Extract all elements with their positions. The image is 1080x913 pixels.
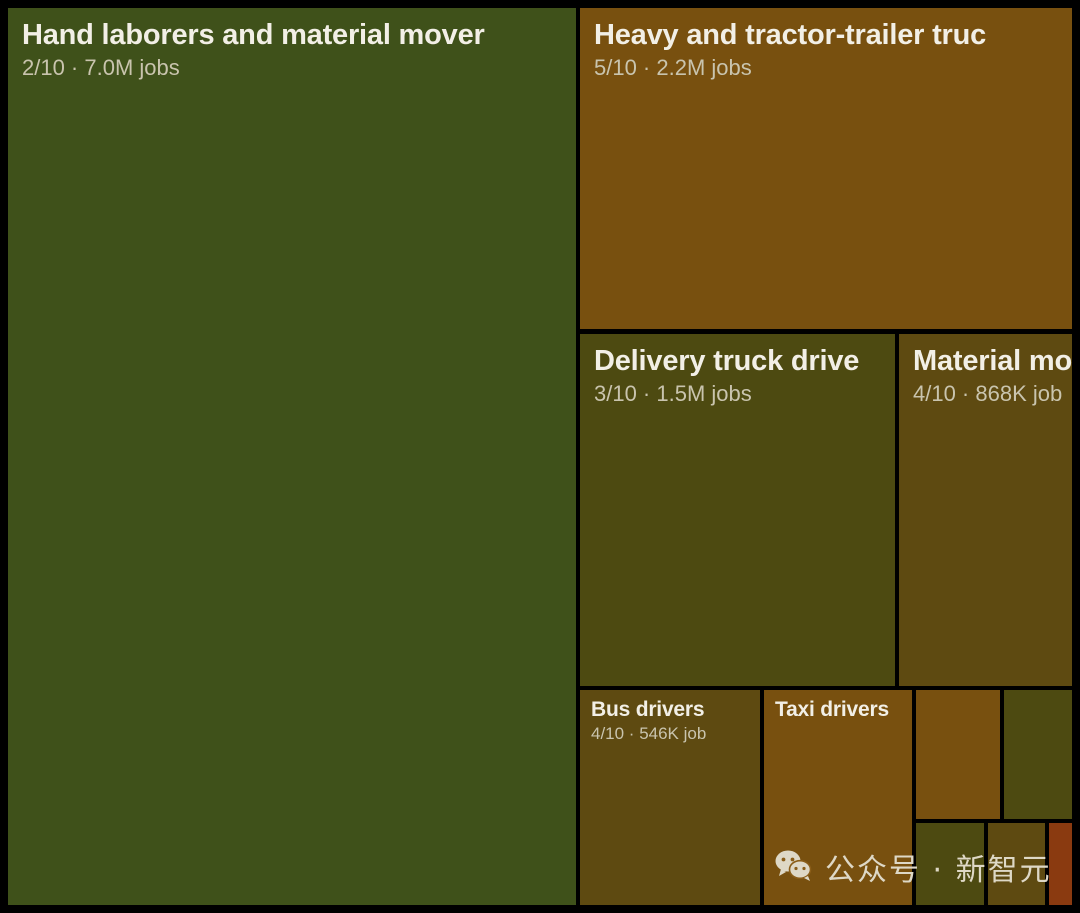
treemap-tile[interactable] xyxy=(988,823,1045,905)
treemap-tile[interactable]: Taxi drivers xyxy=(764,690,912,905)
treemap-tile[interactable]: Heavy and tractor-trailer truc5/10 · 2.2… xyxy=(580,8,1072,329)
tile-subtitle: 5/10 · 2.2M jobs xyxy=(594,54,1058,82)
treemap-tile[interactable]: Material movi4/10 · 868K job xyxy=(899,334,1072,686)
tile-title: Hand laborers and material mover xyxy=(22,20,562,51)
treemap-tile[interactable]: Bus drivers4/10 · 546K job xyxy=(580,690,760,905)
tile-title: Heavy and tractor-trailer truc xyxy=(594,20,1058,51)
tile-subtitle: 2/10 · 7.0M jobs xyxy=(22,54,562,82)
treemap-tile[interactable]: Delivery truck drive3/10 · 1.5M jobs xyxy=(580,334,895,686)
tile-title: Bus drivers xyxy=(591,699,749,721)
tile-title: Taxi drivers xyxy=(775,699,901,721)
treemap-tile[interactable] xyxy=(916,690,1000,819)
treemap-chart: Hand laborers and material mover2/10 · 7… xyxy=(0,0,1080,913)
tile-subtitle: 4/10 · 546K job xyxy=(591,723,749,744)
tile-subtitle: 3/10 · 1.5M jobs xyxy=(594,380,881,408)
tile-subtitle: 4/10 · 868K job xyxy=(913,380,1058,408)
treemap-tile[interactable] xyxy=(1004,690,1072,819)
treemap-tile[interactable] xyxy=(1049,823,1072,905)
tile-title: Material movi xyxy=(913,346,1058,377)
treemap-tile[interactable] xyxy=(916,823,984,905)
tile-title: Delivery truck drive xyxy=(594,346,881,377)
treemap-tile[interactable]: Hand laborers and material mover2/10 · 7… xyxy=(8,8,576,905)
